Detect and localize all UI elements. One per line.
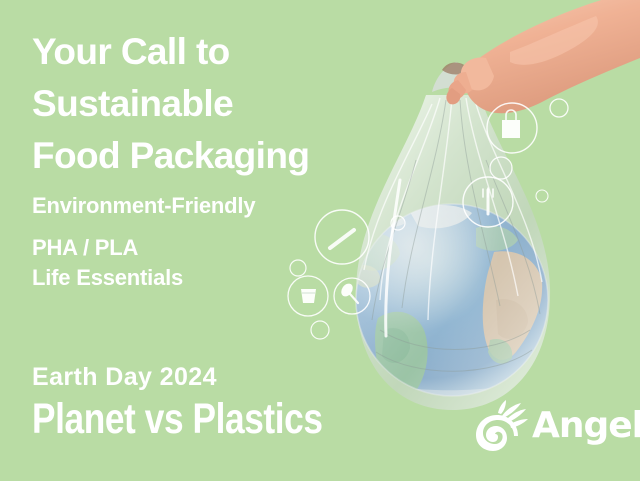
earth-day-eyebrow: Earth Day 2024	[32, 362, 386, 392]
angel-logo[interactable]: Angel	[472, 400, 640, 452]
subheading-line-2: PHA / PLA	[32, 232, 412, 264]
slogan-block: Earth Day 2024 Planet vs Plastics	[32, 362, 386, 444]
headline-line-1: Your Call to	[32, 26, 412, 78]
bubble-small-4	[311, 321, 329, 339]
subheading-line-3: Life Essentials	[32, 262, 412, 294]
bubble-small-1	[550, 99, 568, 117]
bubble-small-6	[536, 190, 548, 202]
headline-line-3: Food Packaging	[32, 130, 412, 182]
subheading-line-1: Environment-Friendly	[32, 190, 412, 222]
headline-line-2: Sustainable	[32, 78, 412, 130]
earth-day-promo-banner: Your Call to Sustainable Food Packaging …	[0, 0, 640, 481]
hand-and-forearm	[446, 0, 640, 113]
planet-vs-plastics-theme: Planet vs Plastics	[32, 394, 323, 444]
shopping-bag-icon	[487, 103, 537, 153]
swirl-spiral-icon	[472, 400, 528, 452]
angel-wordmark: Angel	[532, 408, 640, 444]
headline-block: Your Call to Sustainable Food Packaging …	[32, 26, 412, 294]
